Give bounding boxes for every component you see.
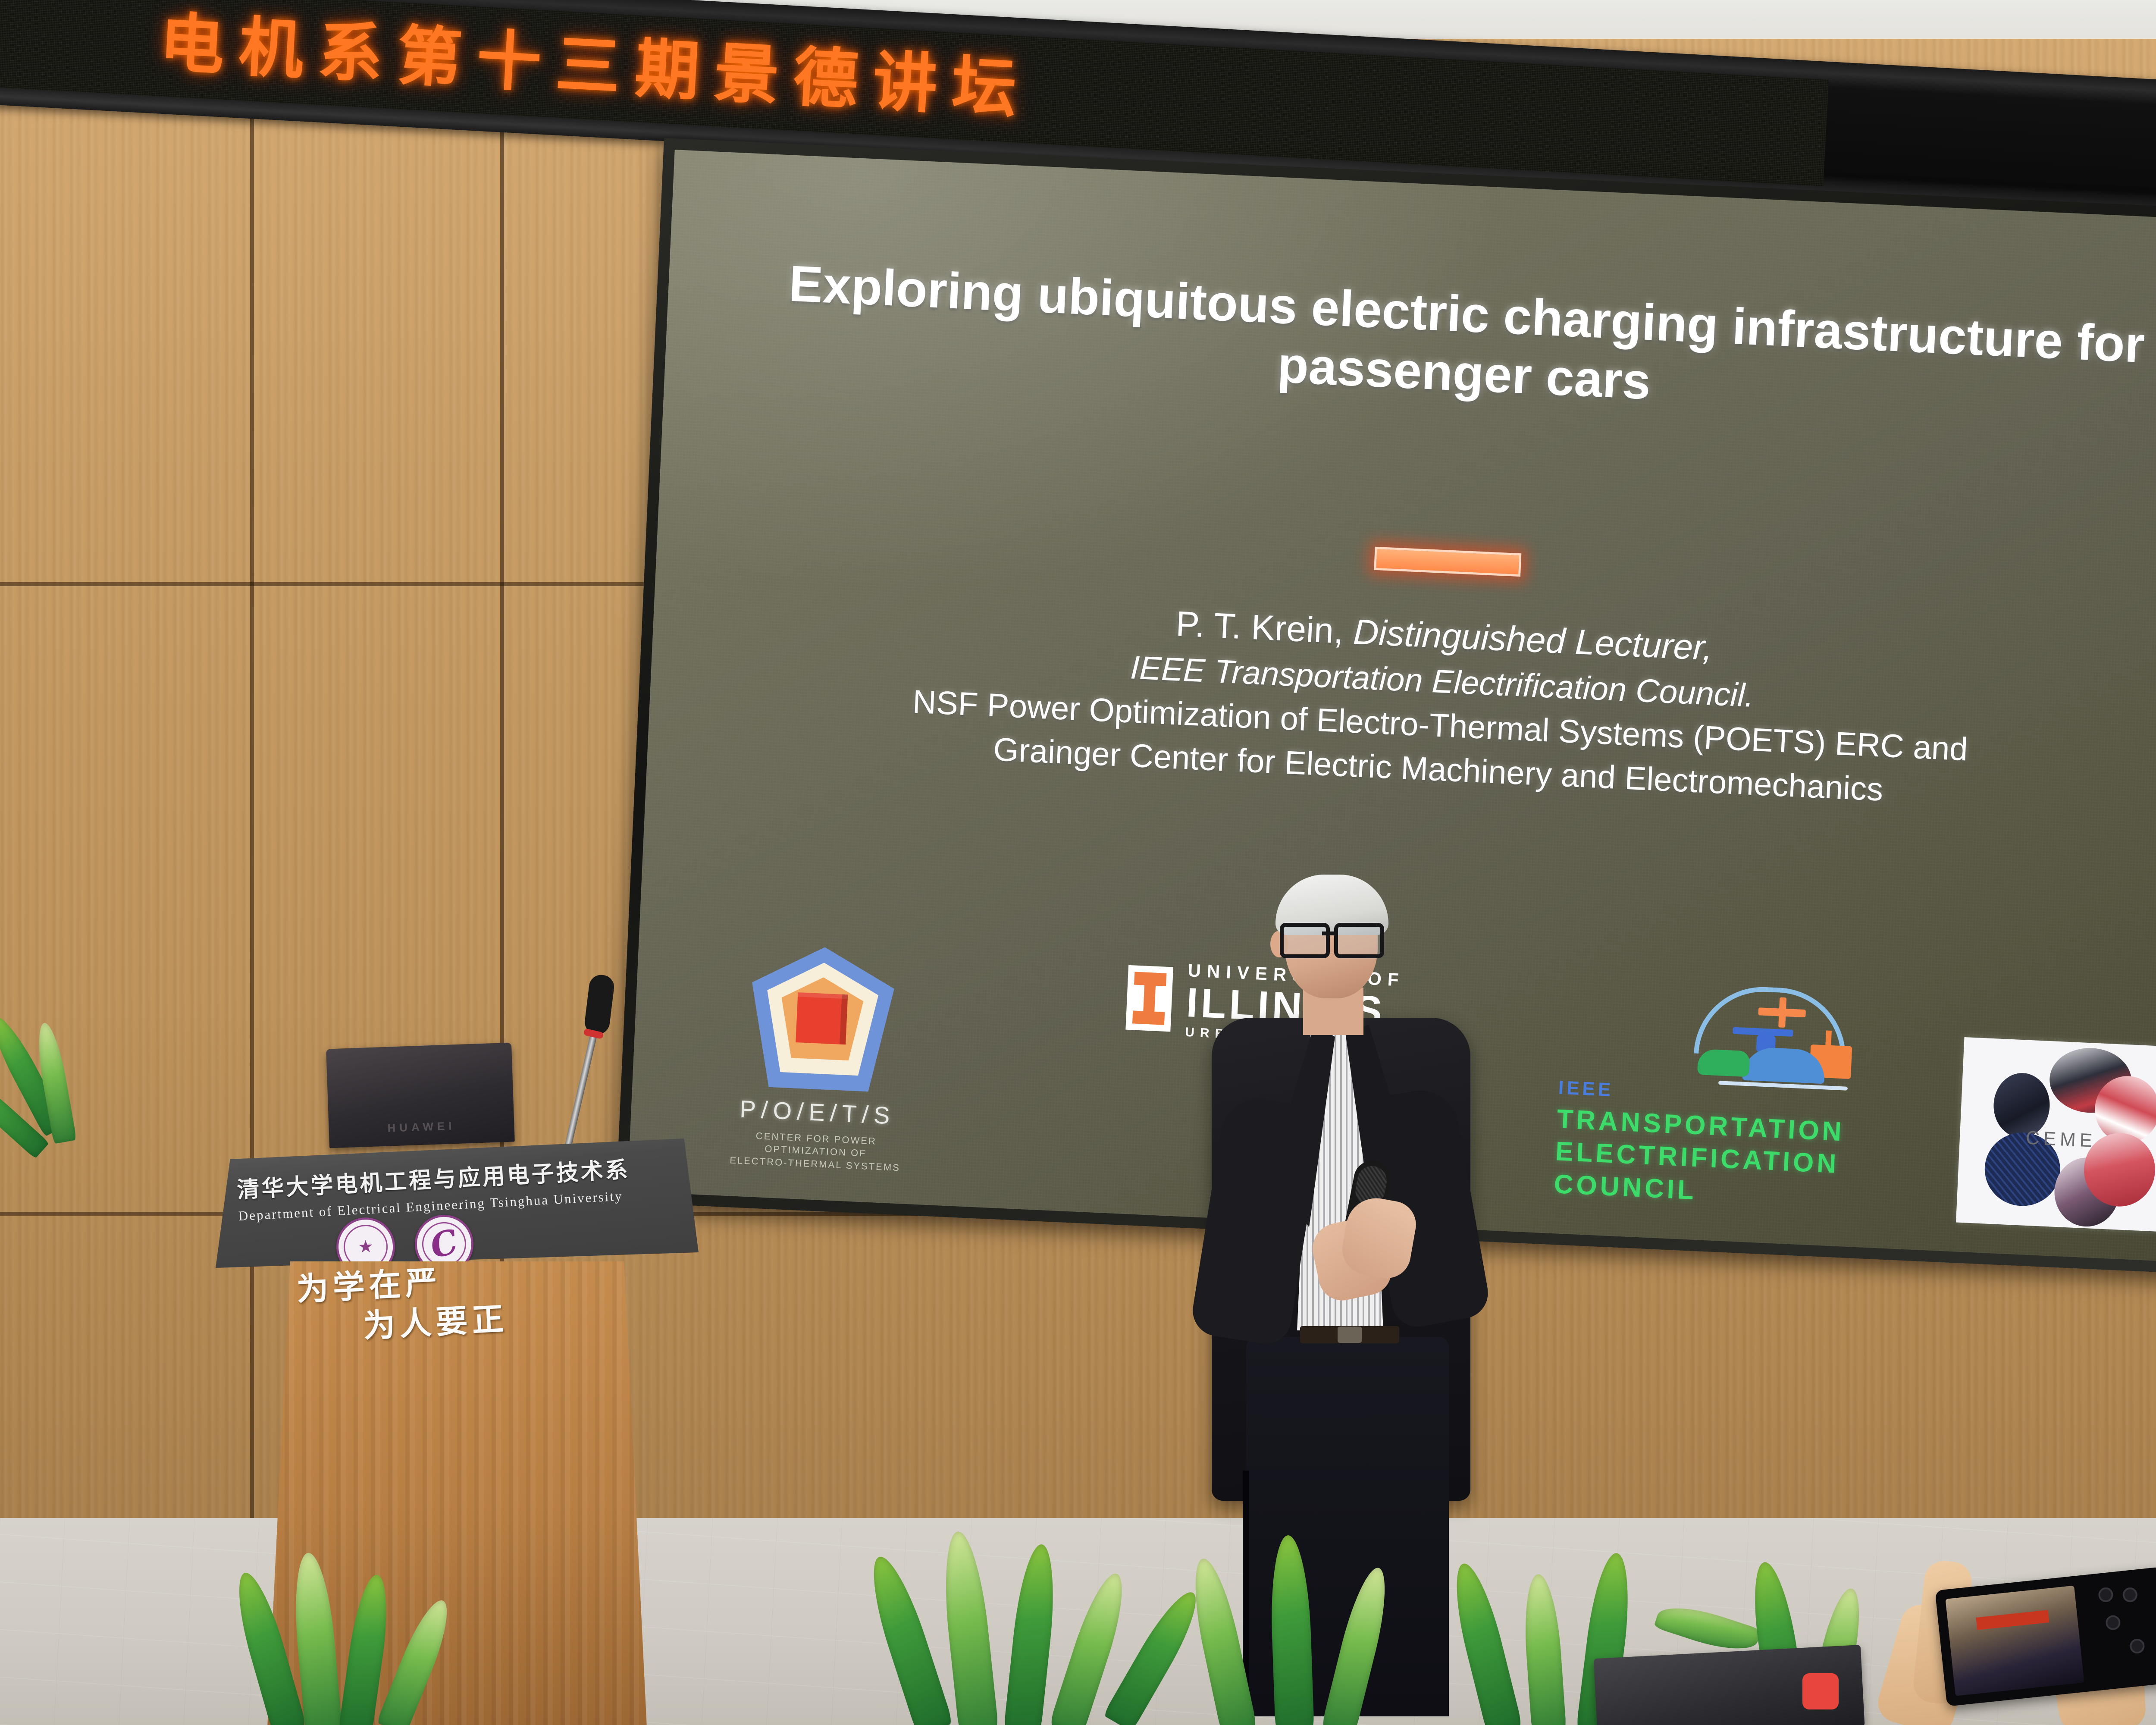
audience-hands-with-phone — [1889, 1544, 2156, 1725]
slide-subtitle-block: P. T. Krein, Distinguished Lecturer, IEE… — [711, 580, 2156, 825]
ceme-logo: CEME — [1956, 1037, 2156, 1232]
lectern-calligraphy: 为学在严 为人要正 — [296, 1257, 541, 1349]
red-bottle-cap — [1802, 1673, 1839, 1709]
transport-vehicles-arc-icon — [1667, 983, 1934, 1094]
speaker-person — [1143, 858, 1531, 1712]
eyeglasses-icon — [1280, 923, 1383, 950]
poets-shield-cube-icon — [747, 944, 896, 1093]
speaker-trouser-seam — [1243, 1471, 1249, 1716]
smartphone-recording-icon[interactable] — [1935, 1567, 2156, 1706]
ieee-tec-logo: IEEE TRANSPORTATION ELECTRIFICATION COUN… — [1553, 978, 1934, 1217]
presenter-name: P. T. Krein, — [1175, 604, 1344, 651]
speaker-belt-buckle — [1338, 1327, 1362, 1343]
laptop-brand-label: HUAWEI — [329, 1117, 514, 1137]
lecture-hall-photo: 电机系第十三期景德讲坛 Exploring ubiquitous electri… — [0, 0, 2156, 1725]
speaker-trousers — [1246, 1337, 1449, 1716]
slide-divider-bar — [1374, 547, 1521, 577]
led-banner-text: 电机系第十三期景德讲坛 — [158, 11, 1033, 122]
poets-logo: P/O/E/T/S CENTER FOR POWER OPTIMIZATION … — [716, 943, 924, 1175]
lectern: HUAWEI 清华大学电机工程与应用电子技术系 Department of El… — [207, 1138, 707, 1725]
slide-title: Exploring ubiquitous electric charging i… — [775, 254, 2155, 434]
podium-laptop[interactable]: HUAWEI — [326, 1043, 515, 1148]
phone-camera-cluster — [2098, 1583, 2156, 1670]
poets-logo-name: P/O/E/T/S — [718, 1094, 917, 1131]
poets-logo-tagline: CENTER FOR POWER OPTIMIZATION OF ELECTRO… — [716, 1128, 916, 1175]
phone-screen — [1946, 1586, 2084, 1696]
ieee-tec-name: TRANSPORTATION ELECTRIFICATION COUNCIL — [1553, 1103, 1928, 1217]
